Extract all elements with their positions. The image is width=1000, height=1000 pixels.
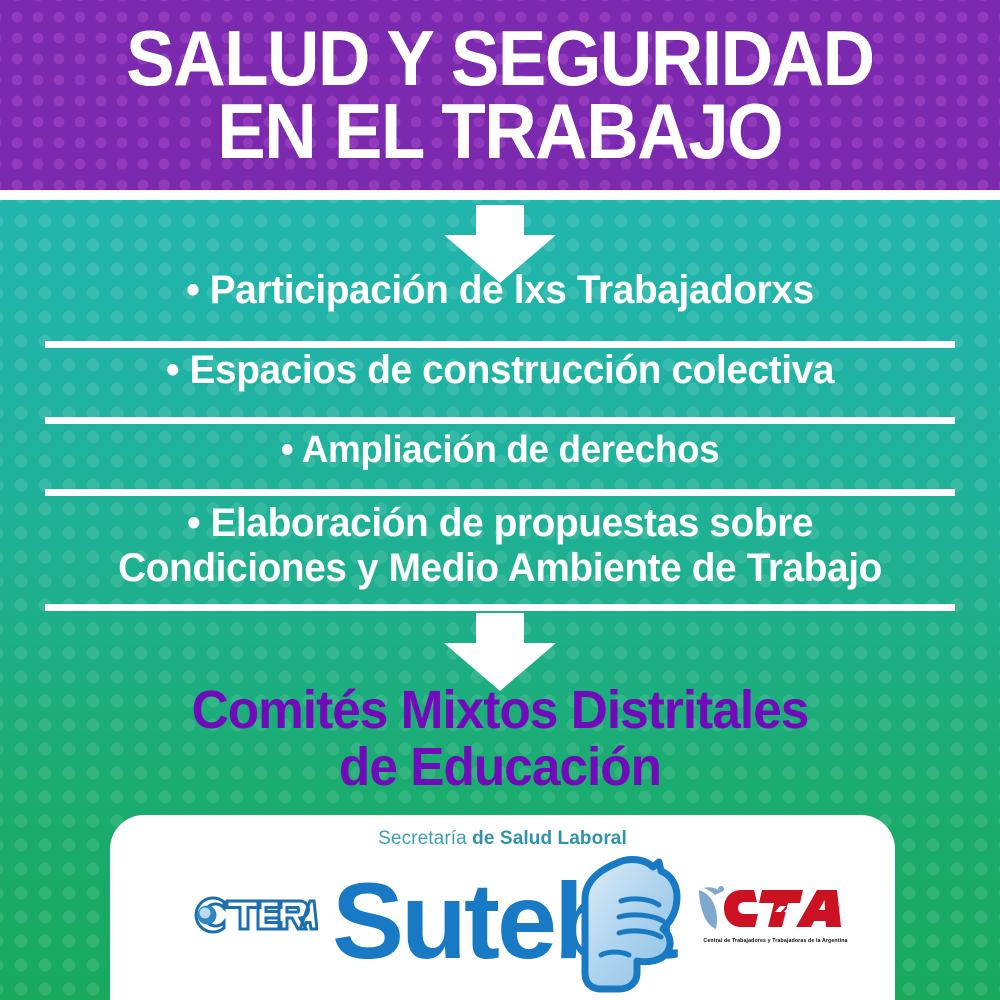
bullet-text: • Participación de lxs Trabajadorxs [34,268,965,313]
cta-logo: Central de Trabajadores y Trabajadoras d… [695,881,845,961]
bullet-text: • Espacios de construcción colectiva [34,348,965,393]
highlight-heading: Comités Mixtos Distritales de Educación [0,682,1000,796]
highlight-line-1: Comités Mixtos Distritales [25,682,975,739]
suteba-logo: Suteba [332,855,682,995]
footer-card: Secretaría de Salud Laboral [110,815,895,1000]
ctera-logo-icon: CTERA [188,891,318,939]
cta-subtitle: Central de Trabajadores y Trabajadoras d… [703,938,848,944]
footer-tagline-bold: de Salud Laboral [472,828,627,849]
title-line-2: EN EL TRABAJO [218,95,783,168]
bullet-text: • Elaboración de propuestas sobre [34,501,965,546]
list-item: • Espacios de construcción colectiva [0,348,1000,393]
poster-root: SALUD Y SEGURIDAD EN EL TRABAJO • Partic… [0,0,1000,1000]
highlight-line-2: de Educación [25,739,975,796]
separator-line-1 [45,341,955,348]
page-title: SALUD Y SEGURIDAD EN EL TRABAJO [0,0,1000,190]
list-item: • Ampliación de derechos [0,429,1000,472]
separator-line-3 [45,489,955,496]
cta-logo-icon [695,881,845,943]
separator-line-2 [45,417,955,424]
title-line-1: SALUD Y SEGURIDAD [126,22,873,95]
list-item: • Elaboración de propuestas sobre Condic… [0,501,1000,591]
logo-row: CTERA Suteba [110,863,895,993]
footer-tagline-thin: Secretaría [378,828,472,849]
suteba-hand-icon [567,855,685,998]
header-banner: SALUD Y SEGURIDAD EN EL TRABAJO [0,0,1000,190]
list-item: • Participación de lxs Trabajadorxs [0,268,1000,313]
bullet-text: • Ampliación de derechos [34,429,965,472]
bullet-text-continued: Condiciones y Medio Ambiente de Trabajo [34,546,965,591]
separator-line-4 [45,604,955,611]
footer-tagline: Secretaría de Salud Laboral [110,828,895,850]
